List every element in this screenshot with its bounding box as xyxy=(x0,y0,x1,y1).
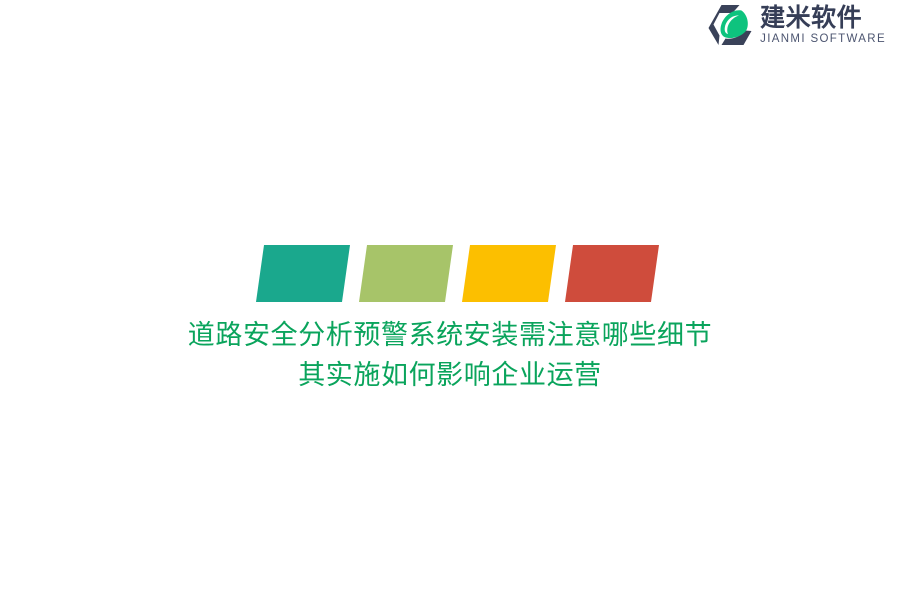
brand-header: 建米软件 JIANMI SOFTWARE xyxy=(707,0,900,50)
brand-text-block: 建米软件 JIANMI SOFTWARE xyxy=(760,5,886,46)
center-composition: 道路安全分析预警系统安装需注意哪些细节 其实施如何影响企业运营 xyxy=(0,245,900,396)
jianmi-hexagon-leaf-logo-icon xyxy=(707,4,753,46)
ribbon-bar-red xyxy=(565,245,659,302)
ribbon-bar-teal xyxy=(256,245,350,302)
ribbon-bar-yellow xyxy=(462,245,556,302)
brand-name: 建米软件 xyxy=(760,5,886,30)
brand-subtitle: JIANMI SOFTWARE xyxy=(760,34,886,46)
page-title: 道路安全分析预警系统安装需注意哪些细节 其实施如何影响企业运营 xyxy=(0,316,900,396)
ribbon-bar-olive xyxy=(359,245,453,302)
color-ribbon xyxy=(0,245,900,302)
